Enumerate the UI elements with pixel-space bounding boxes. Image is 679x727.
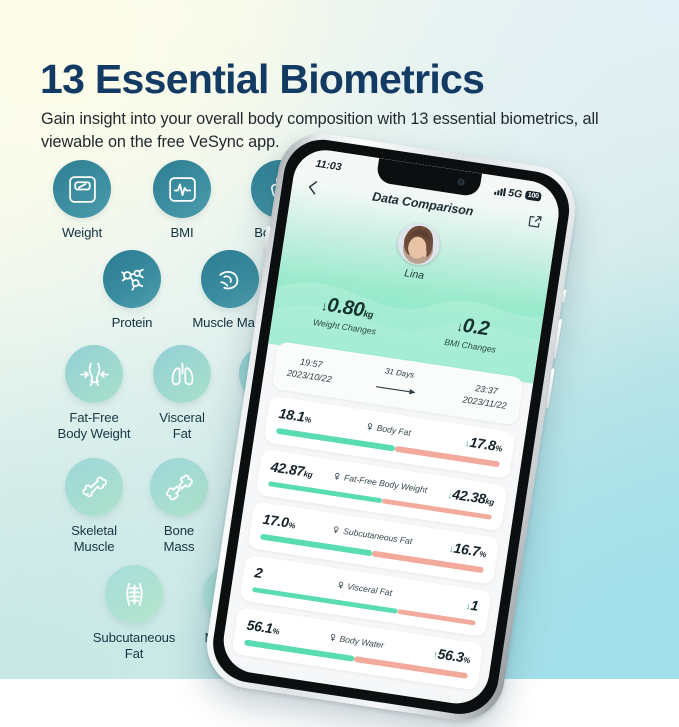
- metric-end-value: ↑56.3%: [432, 645, 472, 666]
- chart-monitor-icon-bubble: [153, 160, 211, 218]
- metric-end-unit: kg: [485, 496, 495, 506]
- metric-end-value: ↓16.7%: [448, 539, 488, 560]
- biometric-item-fat-free-body-weight: Fat-Free Body Weight: [50, 345, 138, 442]
- visceral-fat-icon: [336, 580, 345, 589]
- metric-name: Fat-Free Body Weight: [333, 470, 428, 494]
- metric-start-unit: %: [288, 521, 296, 531]
- bone-joint-icon: [163, 471, 196, 504]
- waist-arrows-icon: [78, 358, 111, 391]
- biometric-item-subcutaneous-fat: Subcutaneous Fat: [90, 565, 178, 662]
- date-range-start: 19:57 2023/10/22: [286, 354, 334, 387]
- metric-end-value: ↓1: [465, 596, 479, 614]
- lungs-icon: [166, 358, 199, 391]
- chart-monitor-icon: [166, 173, 199, 206]
- metric-name-label: Subcutaneous Fat: [343, 526, 413, 546]
- biometric-label: Subcutaneous Fat: [90, 630, 178, 662]
- metric-name: Visceral Fat: [336, 579, 393, 597]
- weight-change-unit: kg: [363, 308, 374, 319]
- metric-start-unit: [261, 571, 262, 580]
- metric-end-unit: [477, 603, 478, 612]
- signal-bars-icon: [494, 186, 506, 196]
- biometric-label: Visceral Fat: [138, 410, 226, 442]
- metric-name-label: Body Water: [339, 634, 385, 651]
- lungs-icon-bubble: [153, 345, 211, 403]
- biometric-label: Fat-Free Body Weight: [50, 410, 138, 442]
- chevron-left-icon: [307, 180, 318, 195]
- body-water-icon: [328, 633, 337, 642]
- metric-start-value: 17.0%: [262, 511, 297, 532]
- metric-name-label: Fat-Free Body Weight: [344, 472, 428, 494]
- metric-end-unit: %: [463, 655, 471, 665]
- date-range-duration: 31 Days: [375, 365, 421, 401]
- share-export-icon: [528, 214, 543, 229]
- metric-start-value: 42.87kg: [270, 458, 314, 480]
- biometric-label: BMI: [138, 225, 226, 241]
- flexed-arm-icon: [214, 263, 247, 296]
- metric-start-value: 18.1%: [278, 405, 313, 426]
- subcutaneous-fat-icon: [332, 525, 341, 534]
- bone-icon: [78, 471, 111, 504]
- biometric-label: Weight: [38, 225, 126, 241]
- metric-start-unit: %: [272, 626, 280, 636]
- metric-start-value: 2: [254, 564, 264, 581]
- metric-end-unit: %: [495, 444, 503, 454]
- biometric-label: Protein: [88, 315, 176, 331]
- share-button[interactable]: [528, 214, 543, 229]
- ribcage-icon: [118, 578, 151, 611]
- biometric-item-bmi: BMI: [138, 160, 226, 241]
- metric-name-label: Body Fat: [376, 423, 412, 438]
- bmi-change-value: 0.2: [461, 315, 490, 341]
- metric-start-value: 56.1%: [246, 617, 281, 638]
- biometric-item-protein: Protein: [88, 250, 176, 331]
- metric-end-unit: %: [479, 550, 487, 560]
- front-camera-icon: [457, 178, 465, 186]
- fat-free-weight-icon: [333, 471, 342, 480]
- metric-start-unit: %: [304, 415, 312, 425]
- metric-end-value: ↓17.8%: [464, 433, 504, 454]
- flexed-arm-icon-bubble: [201, 250, 259, 308]
- biometric-label: Bone Mass: [135, 523, 223, 555]
- biometric-item-weight: Weight: [38, 160, 126, 241]
- weight-change-value: 0.80: [326, 294, 366, 321]
- molecule-icon: [116, 263, 149, 296]
- network-type: 5G: [508, 186, 524, 200]
- page-title: 13 Essential Biometrics: [40, 57, 640, 103]
- metric-trend-arrow: ↓: [464, 438, 470, 450]
- body-fat-icon: [365, 422, 374, 431]
- metric-start-unit: kg: [303, 469, 313, 479]
- battery-indicator: 100: [525, 190, 542, 201]
- biometric-label: Skeletal Muscle: [50, 523, 138, 555]
- molecule-icon-bubble: [103, 250, 161, 308]
- ribcage-icon-bubble: [105, 565, 163, 623]
- metric-trend-arrow: ↓: [447, 490, 453, 502]
- metric-name: Body Fat: [365, 421, 411, 438]
- metric-trend-arrow: ↑: [432, 650, 438, 662]
- date-range-end: 23:37 2023/11/22: [462, 380, 510, 412]
- biometric-item-skeletal-muscle: Skeletal Muscle: [50, 458, 138, 555]
- metric-trend-arrow: ↓: [448, 544, 454, 556]
- metric-end-value: ↓42.38kg: [447, 485, 496, 508]
- bone-joint-icon-bubble: [150, 458, 208, 516]
- status-time: 11:03: [315, 157, 343, 173]
- metric-name: Body Water: [328, 632, 385, 650]
- scale-icon-bubble: [53, 160, 111, 218]
- arrow-right-icon: [375, 377, 419, 401]
- back-button[interactable]: [307, 180, 318, 195]
- biometric-item-bone-mass: Bone Mass: [135, 458, 223, 555]
- metric-trend-arrow: ↓: [465, 601, 471, 613]
- bone-icon-bubble: [65, 458, 123, 516]
- waist-arrows-icon-bubble: [65, 345, 123, 403]
- metric-name: Subcutaneous Fat: [332, 524, 413, 546]
- scale-icon: [66, 173, 99, 206]
- biometric-item-visceral-fat: Visceral Fat: [138, 345, 226, 442]
- metric-name-label: Visceral Fat: [347, 581, 393, 598]
- metrics-list[interactable]: 19:57 2023/10/22 31 Days 23:37 2023/11/2…: [219, 340, 534, 708]
